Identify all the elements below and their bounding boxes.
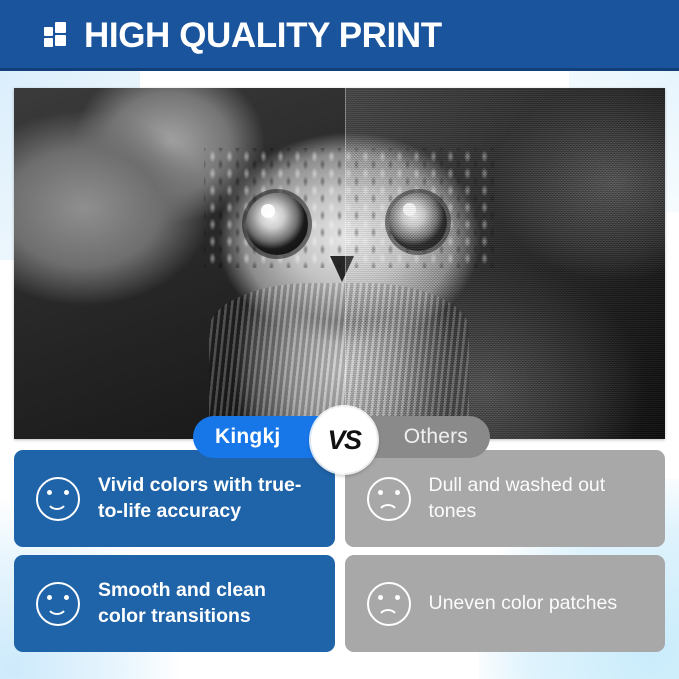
- vs-badge-label: VS: [327, 427, 360, 454]
- others-pill-label: Others: [404, 425, 468, 449]
- owl-beak-icon: [330, 256, 345, 282]
- comparison-photo: [14, 88, 665, 439]
- feature-card-bad-2[interactable]: Uneven color patches: [345, 555, 666, 652]
- happy-face-icon: [36, 582, 80, 626]
- header-banner: HIGH QUALITY PRINT: [0, 0, 679, 71]
- vs-badge: VS: [311, 407, 377, 473]
- photo-half-kingkj: [14, 88, 345, 439]
- feature-card-good-1-text: Vivid colors with true-to-life accuracy: [98, 473, 319, 524]
- sad-face-icon: [367, 477, 411, 521]
- feature-card-good-1[interactable]: Vivid colors with true-to-life accuracy: [14, 450, 335, 547]
- feature-card-row: Smooth and clean color transitions Uneve…: [14, 555, 665, 652]
- happy-face-icon: [36, 477, 80, 521]
- feature-card-good-2-text: Smooth and clean color transitions: [98, 578, 319, 629]
- photo-split-divider: [345, 88, 346, 439]
- photo-half-others: [345, 88, 665, 439]
- sad-face-icon: [367, 582, 411, 626]
- blocks-icon: [44, 22, 70, 50]
- feature-card-bad-1-text: Dull and washed out tones: [429, 473, 650, 524]
- feature-card-good-2[interactable]: Smooth and clean color transitions: [14, 555, 335, 652]
- feature-card-bad-1[interactable]: Dull and washed out tones: [345, 450, 666, 547]
- product-feature-poster: HIGH QUALITY PRINT: [0, 0, 679, 679]
- feature-card-bad-2-text: Uneven color patches: [429, 591, 618, 617]
- brand-pill-label: Kingkj: [215, 425, 280, 449]
- page-title: HIGH QUALITY PRINT: [84, 18, 442, 53]
- owl-eye-left-icon: [246, 193, 308, 255]
- feature-card-grid: Vivid colors with true-to-life accuracy …: [14, 450, 665, 660]
